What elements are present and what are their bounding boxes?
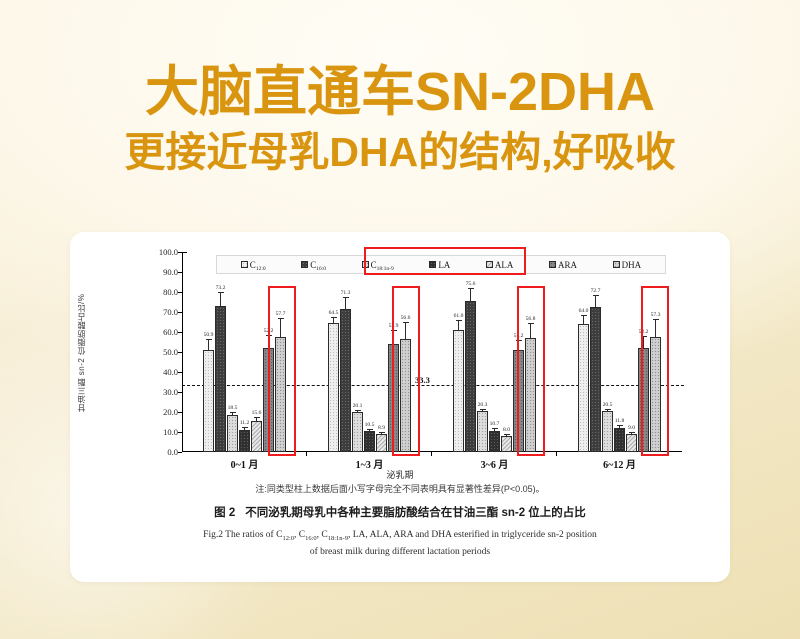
y-tick-label: 50.0 xyxy=(163,347,178,357)
legend-swatch-icon xyxy=(301,261,308,268)
error-bar xyxy=(381,432,382,435)
bar-C120-4: 64.0 xyxy=(578,324,589,452)
legend-swatch-icon xyxy=(362,261,369,268)
error-bar xyxy=(530,323,531,339)
bar-value-label: 73.2 xyxy=(216,285,226,291)
bar-value-label: 10.7 xyxy=(490,421,500,427)
legend-item-ALA[interactable]: ALA xyxy=(486,260,514,270)
legend-item-ARA[interactable]: ARA xyxy=(549,260,577,270)
bar-value-label: 20.3 xyxy=(478,402,488,408)
error-bar xyxy=(268,335,269,349)
caption-english-line1: Fig.2 The ratios of C12:0, C16:0, C18:1n… xyxy=(84,528,716,545)
error-bar xyxy=(470,288,471,302)
plot-area: 100.090.080.070.060.050.040.030.020.010.… xyxy=(182,252,682,452)
bar-ALA-3: 8.0 xyxy=(501,436,512,452)
bar-C160-3: 75.6 xyxy=(465,301,476,452)
bar-value-label: 20.5 xyxy=(603,402,613,408)
legend-swatch-icon xyxy=(429,261,436,268)
y-tick-label: 70.0 xyxy=(163,307,178,317)
legend-label: ARA xyxy=(558,260,577,270)
legend-item-C181n-9[interactable]: C18:1n-9 xyxy=(362,260,394,270)
legend-label: DHA xyxy=(622,260,642,270)
bar-group: 50.973.218.511.215.652.257.7 xyxy=(182,252,307,452)
bar-LA-3: 10.7 xyxy=(489,431,500,452)
headline-block: 大脑直通车SN-2DHA 更接近母乳DHA的结构,好吸收 xyxy=(0,64,800,175)
bar-value-label: 11.2 xyxy=(240,420,250,426)
bar-ALA-4: 9.0 xyxy=(626,434,637,452)
error-bar xyxy=(357,410,358,413)
headline-sub: 更接近母乳DHA的结构,好吸收 xyxy=(0,130,800,175)
bar-groups: 50.973.218.511.215.652.257.764.571.320.1… xyxy=(182,252,682,452)
y-tick-mark xyxy=(178,452,182,453)
figure: 甘油三酯 sn-2 位脂肪酸占比/% 100.090.080.070.060.0… xyxy=(70,232,730,582)
bar-C181n-9-2: 20.1 xyxy=(352,412,363,452)
bar-ALA-2: 8.9 xyxy=(376,434,387,452)
x-axis-title: 泌乳期 xyxy=(70,468,730,481)
error-bar xyxy=(405,322,406,340)
error-bar xyxy=(333,317,334,324)
bar-C160-2: 71.3 xyxy=(340,309,351,452)
error-bar xyxy=(345,297,346,310)
bar-DHA-3: 56.8 xyxy=(525,338,536,452)
bar-value-label: 53.9 xyxy=(389,323,399,329)
y-tick-label: 40.0 xyxy=(163,367,178,377)
legend-item-DHA[interactable]: DHA xyxy=(613,260,642,270)
y-tick-label: 20.0 xyxy=(163,407,178,417)
bar-value-label: 52.2 xyxy=(639,329,649,335)
legend-item-C120[interactable]: C12:0 xyxy=(241,260,266,270)
figure-number: 图 2 xyxy=(214,507,235,519)
bar-C160-1: 73.2 xyxy=(215,306,226,452)
bar-C120-3: 61.0 xyxy=(453,330,464,452)
bar-value-label: 71.3 xyxy=(341,290,351,296)
error-bar xyxy=(595,295,596,308)
bar-DHA-4: 57.3 xyxy=(650,337,661,452)
bar-value-label: 72.7 xyxy=(591,288,601,294)
bar-ARA-3: 51.2 xyxy=(513,350,524,452)
bar-C181n-9-3: 20.3 xyxy=(477,411,488,452)
bar-value-label: 18.5 xyxy=(228,405,238,411)
y-tick-label: 10.0 xyxy=(163,427,178,437)
bar-value-label: 10.5 xyxy=(365,422,375,428)
legend-label: ALA xyxy=(495,260,514,270)
error-bar xyxy=(643,336,644,349)
caption-english: Fig.2 The ratios of C12:0, C16:0, C18:1n… xyxy=(84,528,716,560)
bar-value-label: 9.0 xyxy=(628,425,635,431)
headline-main: 大脑直通车SN-2DHA xyxy=(0,64,800,120)
caption-chinese-text: 不同泌乳期母乳中各种主要脂肪酸结合在甘油三酯 sn-2 位上的占比 xyxy=(245,507,586,519)
bar-value-label: 8.0 xyxy=(503,427,510,433)
error-bar xyxy=(208,339,209,351)
bar-ALA-1: 15.6 xyxy=(251,421,262,452)
bar-value-label: 61.0 xyxy=(454,313,464,319)
caption-english-line2: of breast milk during different lactatio… xyxy=(84,545,716,561)
bar-group: 61.075.620.310.78.051.256.8 xyxy=(432,252,557,452)
bar-value-label: 57.7 xyxy=(276,311,286,317)
error-bar xyxy=(655,319,656,338)
error-bar xyxy=(619,425,620,429)
figure-note-text: 注:同类型柱上数据后面小写字母完全不同表明具有显著性差异(P<0.05)。 xyxy=(255,484,544,494)
error-bar xyxy=(280,318,281,338)
bar-value-label: 15.6 xyxy=(252,410,262,416)
bar-value-label: 11.8 xyxy=(615,418,625,424)
bar-DHA-2: 56.6 xyxy=(400,339,411,452)
legend-item-C160[interactable]: C16:0 xyxy=(301,260,326,270)
bar-C181n-9-4: 20.5 xyxy=(602,411,613,452)
error-bar xyxy=(506,434,507,437)
chart-legend: C12:0C16:0C18:1n-9LAALAARADHA xyxy=(216,255,666,274)
bar-value-label: 57.3 xyxy=(651,312,661,318)
y-tick-label: 90.0 xyxy=(163,267,178,277)
error-bar xyxy=(232,412,233,416)
bar-DHA-1: 57.7 xyxy=(275,337,286,452)
bar-value-label: 51.2 xyxy=(514,333,524,339)
error-bar xyxy=(220,292,221,307)
bar-LA-4: 11.8 xyxy=(614,428,625,452)
bar-LA-1: 11.2 xyxy=(239,430,250,452)
bar-C160-4: 72.7 xyxy=(590,307,601,452)
error-bar xyxy=(244,427,245,431)
y-axis-title: 甘油三酯 sn-2 位脂肪酸占比/% xyxy=(74,250,90,456)
legend-swatch-icon xyxy=(241,261,248,268)
y-tick-label: 0.0 xyxy=(167,447,178,457)
bar-value-label: 56.8 xyxy=(526,316,536,322)
error-bar xyxy=(369,429,370,432)
bar-value-label: 8.9 xyxy=(378,425,385,431)
bar-ARA-4: 52.2 xyxy=(638,348,649,452)
bar-group: 64.571.320.110.58.953.956.6 xyxy=(307,252,432,452)
bar-C120-1: 50.9 xyxy=(203,350,214,452)
bar-value-label: 20.1 xyxy=(353,403,363,409)
caption-chinese: 图 2不同泌乳期母乳中各种主要脂肪酸结合在甘油三酯 sn-2 位上的占比 xyxy=(70,504,730,520)
bar-value-label: 64.0 xyxy=(579,308,589,314)
bar-value-label: 50.9 xyxy=(204,332,214,338)
error-bar xyxy=(256,417,257,422)
y-tick-label: 80.0 xyxy=(163,287,178,297)
error-bar xyxy=(631,432,632,435)
error-bar xyxy=(494,428,495,431)
bar-C120-2: 64.5 xyxy=(328,323,339,452)
figure-note: 注:同类型柱上数据后面小写字母完全不同表明具有显著性差异(P<0.05)。 xyxy=(70,482,730,495)
error-bar xyxy=(482,409,483,413)
error-bar xyxy=(583,315,584,325)
legend-item-LA[interactable]: LA xyxy=(429,260,450,270)
bar-LA-2: 10.5 xyxy=(364,431,375,452)
bar-C181n-9-1: 18.5 xyxy=(227,415,238,452)
legend-label: C16:0 xyxy=(310,260,326,270)
legend-swatch-icon xyxy=(486,261,493,268)
bar-ARA-2: 53.9 xyxy=(388,344,399,452)
legend-swatch-icon xyxy=(613,261,620,268)
figure-card: 甘油三酯 sn-2 位脂肪酸占比/% 100.090.080.070.060.0… xyxy=(70,232,730,582)
bar-ARA-1: 52.2 xyxy=(263,348,274,452)
error-bar xyxy=(393,330,394,345)
y-tick-label: 100.0 xyxy=(159,247,178,257)
y-tick-label: 30.0 xyxy=(163,387,178,397)
bar-value-label: 52.2 xyxy=(264,328,274,334)
legend-label: LA xyxy=(438,260,450,270)
error-bar xyxy=(607,409,608,412)
legend-swatch-icon xyxy=(549,261,556,268)
legend-label: C18:1n-9 xyxy=(371,260,394,270)
bar-value-label: 64.5 xyxy=(329,310,339,316)
bar-value-label: 75.6 xyxy=(466,281,476,287)
error-bar xyxy=(458,320,459,331)
error-bar xyxy=(518,340,519,351)
bar-value-label: 56.6 xyxy=(401,315,411,321)
bar-group: 64.072.720.511.89.052.257.3 xyxy=(557,252,682,452)
legend-label: C12:0 xyxy=(250,260,266,270)
y-tick-label: 60.0 xyxy=(163,327,178,337)
promo-page: 大脑直通车SN-2DHA 更接近母乳DHA的结构,好吸收 甘油三酯 sn-2 位… xyxy=(0,0,800,639)
